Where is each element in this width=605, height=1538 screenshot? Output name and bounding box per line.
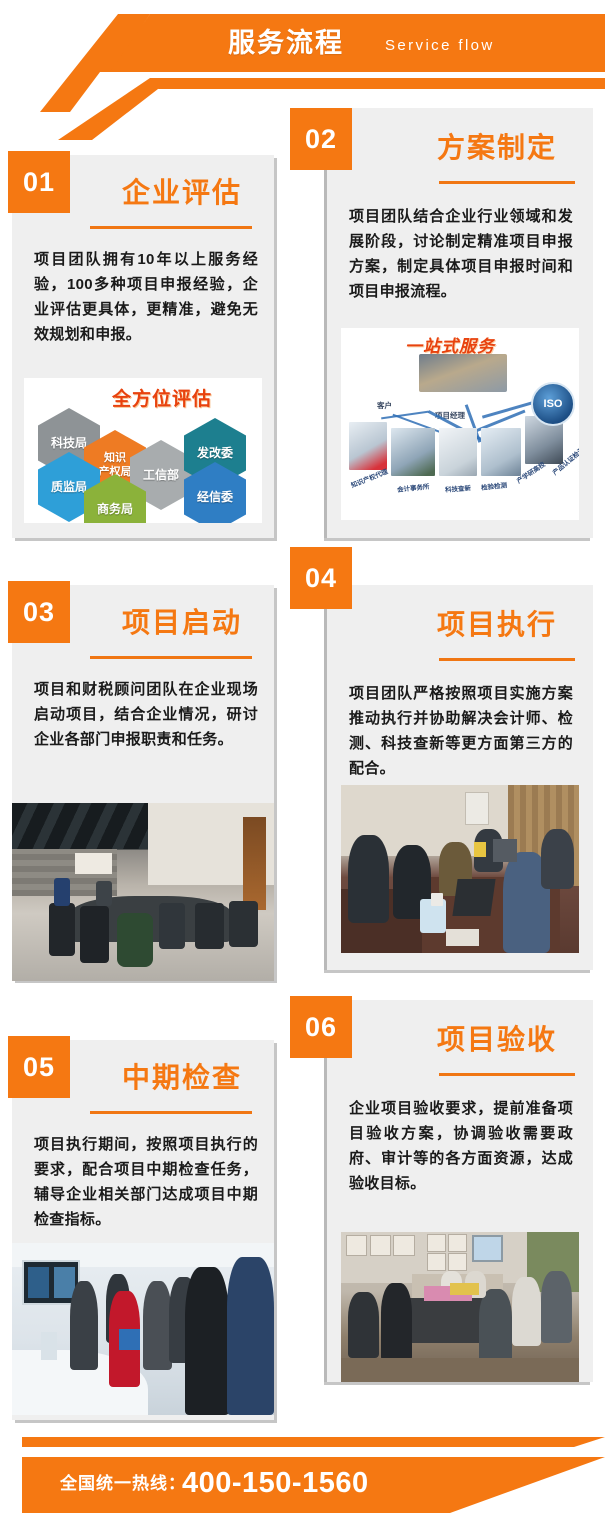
page-subtitle: Service flow (385, 36, 495, 56)
title-underline (90, 656, 252, 659)
step-photo-04 (341, 785, 579, 953)
step-title: 中期检查 (82, 1060, 260, 1096)
service-thumb (391, 428, 435, 476)
one-stop-service-diagram: 一站式服务 客户 项目经理 ISO 知识产权代理 会计事务所 科技查新 检验检测… (341, 328, 579, 520)
step-description: 项目团队结合企业行业领域和发展阶段，讨论制定精准项目申报方案，制定具体项目申报时… (349, 204, 573, 304)
service-label: 检验检测 (480, 479, 507, 492)
iso-seal-icon: ISO (531, 382, 575, 426)
service-thumb (481, 428, 521, 476)
step-description: 项目团队严格按照项目实施方案推动执行并协助解决会计师、检测、科技查新等更方面第三… (349, 681, 573, 781)
step-number-badge: 06 (290, 996, 352, 1058)
step-number-badge: 01 (8, 151, 70, 213)
hotline-number[interactable]: 400-150-1560 (182, 1465, 369, 1501)
title-underline (439, 181, 575, 184)
page-title: 服务流程 (228, 24, 344, 62)
page-header: 服务流程 Service flow (0, 0, 605, 112)
step-title: 项目启动 (82, 605, 260, 641)
step-description: 项目执行期间，按照项目执行的要求，配合项目中期检查任务，辅导企业相关部门达成项目… (34, 1132, 258, 1232)
hub-photo (419, 354, 507, 392)
step-photo-05 (12, 1243, 274, 1415)
step-number-badge: 05 (8, 1036, 70, 1098)
title-underline (439, 658, 575, 661)
step-description: 企业项目验收要求，提前准备项目验收方案，协调验收需要政府、审计等的各方面资源，达… (349, 1096, 573, 1196)
step-photo-06 (341, 1232, 579, 1382)
page-footer: 全国统一热线： 400-150-1560 (0, 1437, 605, 1527)
step-photo-03 (12, 803, 274, 981)
step-title: 企业评估 (82, 175, 260, 211)
step-number-badge: 03 (8, 581, 70, 643)
step-title: 项目执行 (367, 607, 575, 643)
card-left-edge (324, 585, 327, 970)
service-label: 科技查新 (445, 482, 472, 494)
step-number-badge: 02 (290, 108, 352, 170)
footer-accent-stripe (22, 1437, 605, 1447)
hexagon-chart-title: 全方位评估 (112, 384, 212, 411)
title-underline (90, 1111, 252, 1114)
title-underline (90, 226, 252, 229)
step-number-badge: 04 (290, 547, 352, 609)
hexagon-chart: 全方位评估 科技局 知识 产权局 质监局 工信部 商务局 发改委 经信委 (24, 378, 262, 523)
service-thumb (349, 422, 387, 470)
step-card-01[interactable]: 01 企业评估 项目团队拥有10年以上服务经验，100多种项目申报经验，企业评估… (12, 155, 274, 538)
title-underline (439, 1073, 575, 1076)
step-description: 项目团队拥有10年以上服务经验，100多种项目申报经验，企业评估更具体，更精准，… (34, 247, 258, 347)
step-description: 项目和财税顾问团队在企业现场启动项目，结合企业情况，研讨企业各部门申报职责和任务… (34, 677, 258, 752)
hotline-label: 全国统一热线： (60, 1471, 186, 1497)
service-label: 会计事务所 (396, 481, 429, 494)
step-title: 项目验收 (367, 1022, 575, 1058)
service-thumb (439, 428, 477, 476)
card-left-edge (324, 108, 327, 538)
step-title: 方案制定 (367, 130, 575, 166)
hub-label-customer: 客户 (377, 400, 392, 411)
